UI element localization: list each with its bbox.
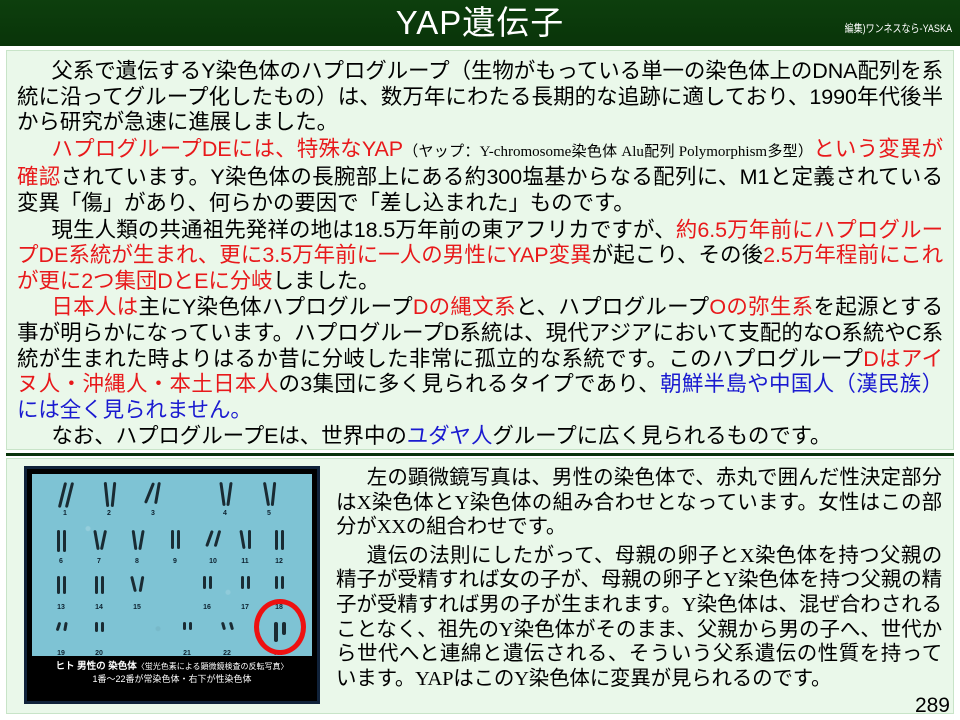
paragraph-1: 父系で遺伝するY染色体のハプログループ（生物がもっている単一の染色体上のDNA配… bbox=[17, 59, 943, 136]
chromosome-pair-3: 3 bbox=[138, 482, 168, 518]
chromosome-pair-1: 1 bbox=[50, 482, 80, 518]
chromosome-pair-21: 21 bbox=[172, 622, 202, 656]
chromosome-pair-7: 7 bbox=[84, 530, 114, 566]
run-p3-f: しました。 bbox=[273, 269, 380, 293]
chromosome-label: 14 bbox=[84, 604, 114, 612]
chromosome-label: 7 bbox=[84, 558, 114, 566]
chromosome-label: 10 bbox=[198, 558, 228, 566]
main-text-panel: 父系で遺伝するY染色体のハプログループ（生物がもっている単一の染色体上のDNA配… bbox=[6, 50, 954, 450]
run-p4-e: Oの弥生系 bbox=[709, 295, 813, 319]
chromosome-label: 20 bbox=[84, 650, 114, 656]
run-p4-h: の3集団に多く見られるタイプであり、 bbox=[278, 372, 660, 396]
karyotype-figure: 1 2 3 4 5 bbox=[24, 466, 320, 704]
chromosome-label: 17 bbox=[230, 604, 260, 612]
chromosome-pair-4: 4 bbox=[210, 482, 240, 518]
karyotype-image: 1 2 3 4 5 bbox=[32, 474, 312, 656]
run-p3-d: が起こり、その後 bbox=[592, 243, 763, 267]
paragraph-3: 現生人類の共通祖先発祥の地は18.5万年前の東アフリカですが、約6.5万年前にハ… bbox=[17, 218, 943, 295]
run-p4-c: Dの縄文系 bbox=[413, 295, 516, 319]
chromosome-label: 3 bbox=[138, 510, 168, 518]
figure-explanation-text: 左の顕微鏡写真は、男性の染色体で、赤丸で囲んだ性決定部分はX染色体とY染色体の組… bbox=[336, 466, 942, 698]
chromosome-pair-16: 16 bbox=[192, 576, 222, 612]
run-p2-b-annotation: （ヤップ：Y-chromosome染色体 Alu配列 Polymorphism多… bbox=[403, 144, 813, 160]
chromosome-label: 22 bbox=[212, 650, 242, 656]
chromosome-label: 2 bbox=[94, 510, 124, 518]
lower-paragraph-2: 遺伝の法則にしたがって、母親の卵子とX染色体を持つ父親の精子が受精すれば女の子が… bbox=[336, 544, 942, 692]
page-title: YAP遺伝子 bbox=[0, 1, 960, 45]
chromosome-pair-9: 9 bbox=[160, 530, 190, 566]
figure-caption-line2: 1番～22番が常染色体・右下が性染色体 bbox=[32, 673, 312, 686]
run-p3-c: 3.5万年前に一人の男性にYAP変異 bbox=[262, 243, 591, 267]
paragraph-4: 日本人は主にY染色体ハプログループDの縄文系と、ハプログループOの弥生系を起源と… bbox=[17, 295, 943, 423]
chromosome-label: 11 bbox=[230, 558, 260, 566]
figure-caption-title: ヒト 男性の 染色体 bbox=[55, 661, 136, 672]
lower-paragraph-1: 左の顕微鏡写真は、男性の染色体で、赤丸で囲んだ性決定部分はX染色体とY染色体の組… bbox=[336, 466, 942, 540]
chromosome-pair-12: 12 bbox=[264, 530, 294, 566]
slide-root: YAP遺伝子 編集)ワンネスなら-YASKA 父系で遺伝するY染色体のハプログル… bbox=[0, 0, 960, 720]
run-p4-b: 主にY染色体ハプログループ bbox=[138, 295, 412, 319]
chromosome-label: 21 bbox=[172, 650, 202, 656]
title-bar: YAP遺伝子 編集)ワンネスなら-YASKA bbox=[0, 0, 960, 46]
chromosome-label: 4 bbox=[210, 510, 240, 518]
run-p4-d: と、ハプログループ bbox=[516, 295, 710, 319]
run-p5-b: ユダヤ人 bbox=[407, 424, 493, 448]
chromosome-pair-8: 8 bbox=[122, 530, 152, 566]
run-p1-a: 父系で遺伝するY染色体のハプログループ（生物がもっている単一の染色体上のDNA配… bbox=[17, 59, 943, 134]
chromosome-label: 15 bbox=[122, 604, 152, 612]
run-p5-c: グループに広く見られるものです。 bbox=[492, 424, 831, 448]
chromosome-pair-22: 22 bbox=[212, 622, 242, 656]
run-p4-a: 日本人は bbox=[51, 295, 138, 319]
chromosome-pair-20: 20 bbox=[84, 622, 114, 656]
chromosome-label: 8 bbox=[122, 558, 152, 566]
page-number: 289 bbox=[915, 694, 950, 718]
paragraph-5: なお、ハプログループEは、世界中のユダヤ人グループに広く見られるものです。 bbox=[17, 424, 943, 450]
chromosome-label: 1 bbox=[50, 510, 80, 518]
chromosome-label: 13 bbox=[46, 604, 76, 612]
chromosome-pair-11: 11 bbox=[230, 530, 260, 566]
chromosome-pair-17: 17 bbox=[230, 576, 260, 612]
figure-caption: ヒト 男性の 染色体〈蛍光色素による顕微鏡検査の反転写真〉 1番～22番が常染色… bbox=[32, 656, 312, 686]
run-p5-a: なお、ハプログループEは、世界中の bbox=[51, 424, 406, 448]
chromosome-row-1: 1 2 3 4 5 bbox=[32, 482, 312, 526]
chromosome-pair-13: 13 bbox=[46, 576, 76, 612]
chromosome-label: 5 bbox=[254, 510, 284, 518]
chromosome-pair-6: 6 bbox=[46, 530, 76, 566]
chromosome-label: 19 bbox=[46, 650, 76, 656]
chromosome-pair-14: 14 bbox=[84, 576, 114, 612]
chromosome-pair-10: 10 bbox=[198, 530, 228, 566]
chromosome-label: 12 bbox=[264, 558, 294, 566]
paragraph-2: ハプログループDEには、特殊なYAP（ヤップ：Y-chromosome染色体 A… bbox=[17, 137, 943, 217]
chromosome-pair-5: 5 bbox=[254, 482, 284, 518]
chromosome-pair-19: 19 bbox=[46, 622, 76, 656]
sex-chromosome-highlight-circle bbox=[254, 599, 306, 655]
chromosome-pair-2: 2 bbox=[94, 482, 124, 518]
run-p2-d: されています。Y染色体の長腕部上にある約300塩基からなる配列に、M1と定義され… bbox=[17, 165, 943, 215]
figure-caption-note: 〈蛍光色素による顕微鏡検査の反転写真〉 bbox=[137, 662, 289, 671]
chromosome-pair-15: 15 bbox=[122, 576, 152, 612]
chromosome-row-2: 6 7 8 9 10 bbox=[32, 530, 312, 574]
chromosome-label: 6 bbox=[46, 558, 76, 566]
editor-byline: 編集)ワンネスなら-YASKA bbox=[845, 22, 952, 36]
run-p3-a: 現生人類の共通祖先発祥の地は18.5万年前の東アフリカですが、 bbox=[51, 218, 675, 242]
chromosome-label: 9 bbox=[160, 558, 190, 566]
section-divider bbox=[6, 453, 954, 456]
chromosome-label: 16 bbox=[192, 604, 222, 612]
run-p2-a: ハプログループDEには、特殊なYAP bbox=[51, 137, 403, 161]
